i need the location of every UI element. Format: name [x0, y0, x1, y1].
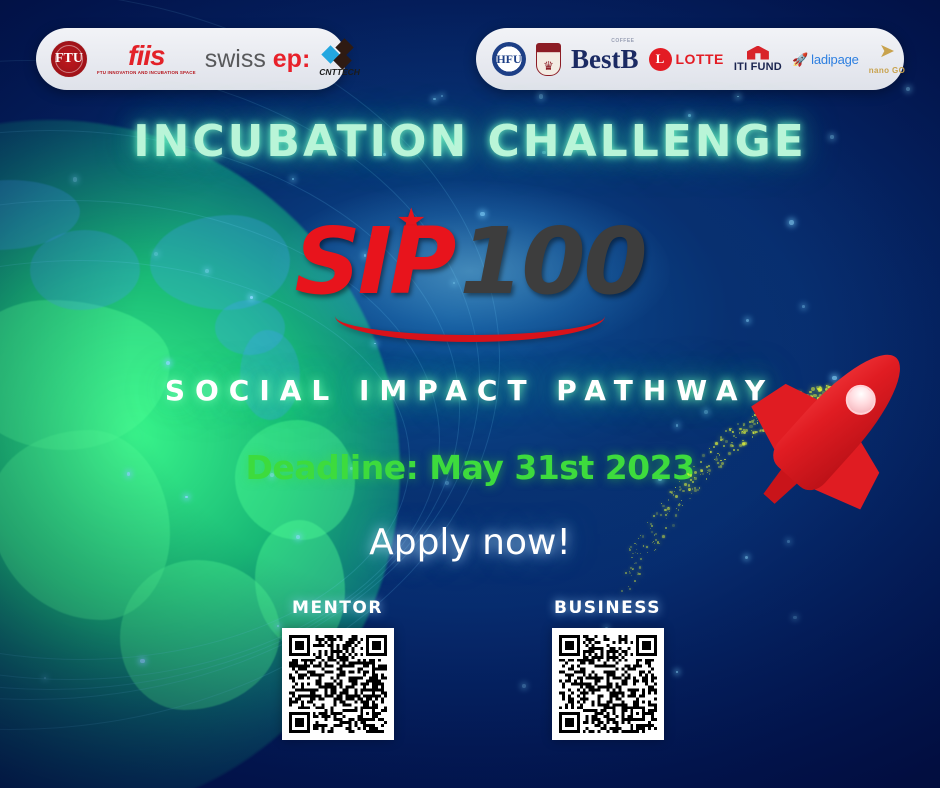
trail-spark: [632, 569, 634, 571]
trail-spark: [631, 575, 632, 576]
hfu-crest-icon: HFU: [492, 42, 526, 76]
swiss-ep-part1: swiss: [205, 45, 273, 73]
trail-spark: [670, 491, 671, 492]
tiger-icon: ♛: [543, 60, 554, 75]
bestb-wordmark: BestB: [571, 44, 639, 74]
trail-spark: [664, 509, 665, 510]
trail-spark: [694, 487, 696, 489]
nano-go-logo: ➤ nano GO: [869, 42, 906, 77]
trail-spark: [666, 518, 668, 520]
trail-spark: [675, 514, 678, 517]
qr-frame-business[interactable]: [552, 628, 664, 740]
trail-spark: [665, 514, 666, 515]
trail-spark: [674, 491, 675, 492]
trail-spark: [634, 580, 636, 582]
partner-logo-bar: HFU ♛ COFFEE BestB L LOTTE ITI FUND 🚀 la…: [476, 28, 904, 90]
fiis-logo: fiis FTU INNOVATION AND INCUBATION SPACE: [97, 42, 196, 75]
trail-spark: [680, 504, 681, 505]
ftu-seal-label: FTU: [55, 52, 83, 66]
cnttech-wordmark: CNTTECH: [319, 68, 360, 77]
trail-spark: [629, 571, 630, 572]
trail-spark: [662, 505, 664, 507]
sip100-wordmark: SIP 100: [295, 216, 646, 308]
star-dot: [676, 424, 678, 426]
trail-spark: [699, 487, 700, 488]
sip100-logo: ★ SIP 100: [0, 196, 940, 346]
star-dot: [140, 659, 145, 664]
trail-spark: [676, 508, 677, 509]
nano-go-wordmark: nano GO: [869, 66, 906, 75]
trail-spark: [656, 512, 658, 514]
trail-spark: [689, 490, 690, 491]
trail-spark: [672, 491, 673, 492]
qr-label-business: BUSINESS: [500, 598, 715, 618]
swiss-ep-logo: swiss ep:: [205, 47, 311, 72]
qr-code-business[interactable]: [559, 635, 657, 733]
qr-frame-mentor[interactable]: [282, 628, 394, 740]
trail-spark: [669, 511, 670, 512]
trail-spark: [634, 563, 635, 564]
ladipage-wordmark: ladipage: [811, 52, 859, 67]
trail-spark: [675, 495, 678, 498]
cnttech-diamond-icon: [323, 41, 357, 67]
trail-spark: [667, 507, 670, 510]
trail-spark: [673, 494, 675, 496]
trail-spark: [678, 509, 679, 510]
bestb-logo: COFFEE BestB: [571, 46, 639, 73]
ftu-seal-icon: FTU: [50, 40, 88, 78]
star-dot: [793, 616, 797, 620]
trail-spark: [637, 574, 638, 575]
iti-fund-logo: ITI FUND: [734, 46, 782, 73]
trail-spark: [689, 498, 690, 499]
trail-spark: [637, 572, 639, 574]
trail-spark: [671, 492, 673, 494]
trail-spark: [680, 488, 682, 490]
trail-spark: [668, 499, 670, 501]
poster-canvas: FTU fiis FTU INNOVATION AND INCUBATION S…: [0, 0, 940, 788]
lotte-logo: L LOTTE: [649, 48, 724, 71]
trail-spark: [661, 503, 662, 504]
page-title: INCUBATION CHALLENGE: [0, 116, 940, 167]
star-dot: [441, 95, 443, 97]
trail-spark: [681, 500, 682, 501]
ladipage-logo: 🚀 ladipage: [792, 52, 859, 67]
trail-spark: [638, 573, 640, 575]
sip-text: SIP: [295, 216, 454, 308]
trail-spark: [679, 489, 681, 491]
trail-spark: [669, 491, 671, 493]
trail-spark: [678, 504, 680, 506]
lotte-wordmark: LOTTE: [676, 51, 724, 67]
star-dot: [433, 98, 435, 100]
trail-spark: [625, 572, 627, 574]
star-dot: [737, 96, 739, 98]
ladipage-rocket-icon: 🚀: [792, 53, 808, 66]
trail-spark: [639, 566, 641, 568]
trail-spark: [697, 489, 699, 491]
trail-spark: [628, 586, 629, 587]
star-dot: [539, 94, 544, 99]
star-dot: [906, 87, 911, 92]
trail-spark: [621, 590, 623, 592]
swiss-ep-part2: ep:: [273, 45, 311, 73]
trail-spark: [688, 488, 691, 491]
bestb-tiny-label: COFFEE: [611, 39, 634, 44]
trail-spark: [675, 487, 676, 488]
bird-icon: ➤: [869, 42, 906, 61]
bank-roof-icon: [747, 46, 769, 60]
trail-spark: [667, 513, 668, 514]
iti-fund-wordmark: ITI FUND: [734, 62, 782, 73]
trail-spark: [691, 493, 692, 494]
qr-block-mentor[interactable]: MENTOR: [230, 598, 445, 740]
cnttech-logo: CNTTECH: [319, 41, 360, 77]
trail-spark: [668, 507, 669, 508]
trail-spark: [632, 568, 634, 570]
korea-university-crest-icon: ♛: [536, 43, 561, 76]
trail-spark: [660, 514, 662, 516]
trail-spark: [629, 588, 631, 590]
trail-spark: [630, 567, 631, 568]
star-dot: [704, 410, 708, 414]
hundred-text: 100: [459, 216, 645, 308]
qr-label-mentor: MENTOR: [230, 598, 445, 618]
trail-spark: [664, 509, 666, 511]
qr-block-business[interactable]: BUSINESS: [500, 598, 715, 740]
trail-spark: [629, 572, 631, 574]
trail-spark: [653, 515, 655, 517]
trail-spark: [675, 487, 676, 488]
qr-code-mentor[interactable]: [289, 635, 387, 733]
fiis-tagline: FTU INNOVATION AND INCUBATION SPACE: [97, 71, 196, 75]
fiis-wordmark: fiis: [97, 42, 196, 70]
trail-spark: [694, 489, 696, 491]
trail-spark: [692, 488, 693, 489]
trail-spark: [679, 503, 680, 504]
organizer-logo-bar: FTU fiis FTU INNOVATION AND INCUBATION S…: [36, 28, 346, 90]
star-dot: [292, 178, 294, 180]
trail-spark: [682, 490, 684, 492]
trail-spark: [682, 505, 683, 506]
lotte-mark-icon: L: [649, 48, 672, 71]
